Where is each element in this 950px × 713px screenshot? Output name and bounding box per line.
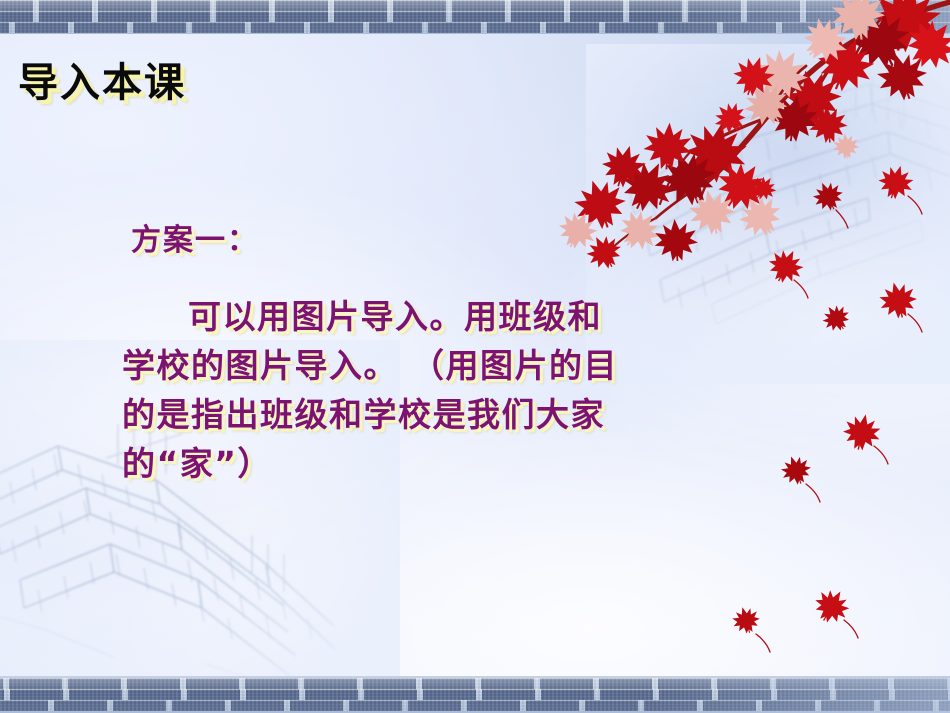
body-line-1: 可以用图片导入。用班级和 bbox=[122, 292, 782, 341]
page-title: 导入本课 bbox=[18, 50, 186, 108]
body-line-4: 的“家”） bbox=[122, 439, 782, 488]
presentation-slide: 导入本课 方案一： 可以用图片导入。用班级和 学校的图片导入。 （用图片的目 的… bbox=[0, 0, 950, 713]
body-line-3: 的是指出班级和学校是我们大家 bbox=[122, 390, 782, 439]
bottom-brick-border bbox=[0, 676, 950, 713]
body-paragraph: 可以用图片导入。用班级和 学校的图片导入。 （用图片的目 的是指出班级和学校是我… bbox=[122, 292, 782, 488]
top-brick-border bbox=[0, 0, 950, 34]
body-line-2: 学校的图片导入。 （用图片的目 bbox=[122, 341, 782, 390]
plan-label: 方案一： bbox=[131, 215, 259, 259]
